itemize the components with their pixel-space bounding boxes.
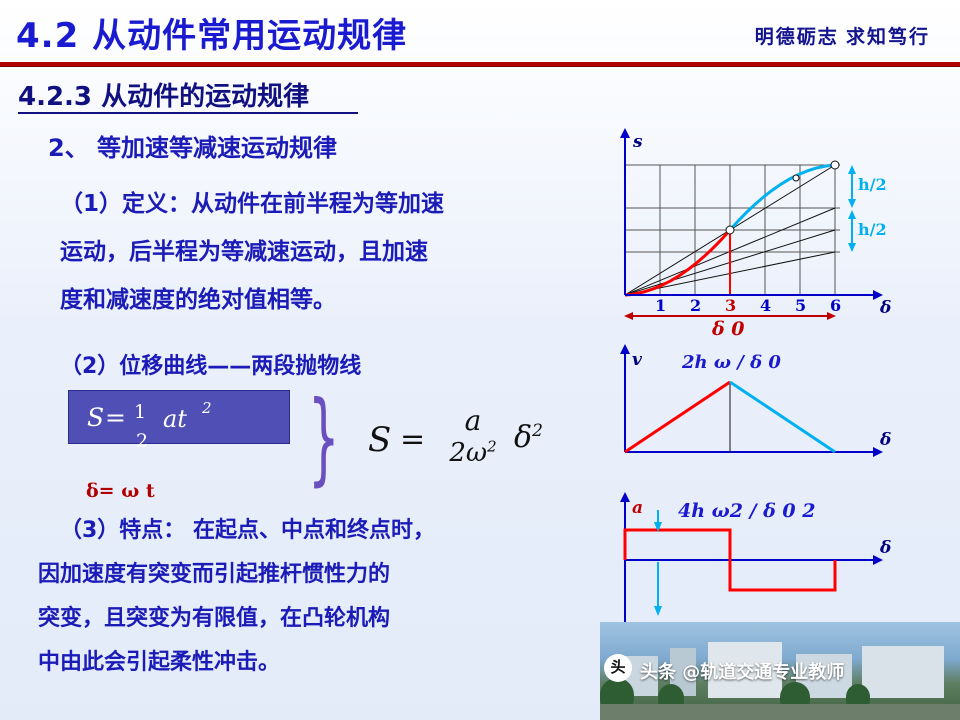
section-heading-underline	[18, 112, 358, 114]
page-title: 4.2 从动件常用运动规律	[16, 8, 407, 57]
h-half-bottom-label: h/2	[858, 220, 887, 239]
feature-line-3: 突变，且突变为有限值，在凸轮机构	[38, 600, 390, 632]
main-formula-equals: =	[400, 422, 425, 457]
watermark-text: 头条 @轨道交通专业教师	[640, 658, 844, 684]
velocity-chart: v δ 2h ω / δ 0	[600, 342, 900, 472]
slide-root: 4.2 从动件常用运动规律 明德砺志 求知笃行 4.2.3 从动件的运动规律 2…	[0, 0, 960, 720]
s-axis-label: s	[633, 132, 643, 152]
curly-brace: }	[308, 388, 340, 488]
formula-box-s: S	[87, 403, 104, 432]
delta-axis-label-1: δ	[880, 298, 891, 318]
formula-box-denominator: 2	[136, 430, 148, 452]
header-divider-thin	[0, 66, 960, 67]
feature-line-1: （3）特点： 在起点、中点和终点时，	[60, 512, 435, 544]
delta-axis-label-3: δ	[880, 538, 891, 558]
v-axis-label: v	[632, 350, 642, 370]
main-formula-numerator: a	[465, 404, 482, 437]
h-half-top-label: h/2	[858, 175, 887, 194]
watermark-badge: 头	[604, 654, 632, 682]
item-2-heading: 2、 等加速等减速运动规律	[48, 128, 337, 163]
x-tick-6: 6	[830, 296, 841, 315]
displacement-chart: s δ 1 2 3 4 5 6 h/2 h/2 δ 0	[600, 120, 900, 320]
x-tick-5: 5	[795, 296, 806, 315]
main-formula-delta: δ2	[514, 420, 543, 455]
displacement-chart-svg	[600, 120, 900, 320]
main-formula: S = a 2ω2 δ2	[368, 398, 568, 494]
x-tick-1: 1	[655, 296, 666, 315]
acceleration-chart: a δ 4h ω2 / δ 0 2	[600, 490, 900, 635]
formula-box-at: at	[163, 405, 187, 433]
feature-line-4: 中由此会引起柔性冲击。	[38, 644, 280, 676]
slide-header: 4.2 从动件常用运动规律 明德砺志 求知笃行	[0, 0, 960, 62]
a-axis-label: a	[632, 498, 643, 518]
displacement-curve-line: （2）位移曲线——两段抛物线	[60, 348, 361, 380]
formula-box: S = 1 2 at 2	[68, 390, 290, 444]
delta0-label: δ 0	[712, 318, 745, 340]
formula-box-exponent: 2	[202, 399, 212, 417]
delta-omega-note: δ= ω t	[86, 480, 155, 502]
a-peak-label: 4h ω2 / δ 0 2	[678, 500, 815, 522]
main-formula-fraction: a 2ω2	[440, 404, 506, 468]
x-tick-4: 4	[760, 296, 771, 315]
formula-box-numerator: 1	[134, 401, 146, 423]
section-heading: 4.2.3 从动件的运动规律	[18, 76, 309, 113]
definition-line-3: 度和减速度的绝对值相等。	[60, 280, 336, 314]
definition-line-2: 运动，后半程为等减速运动，且加速	[60, 232, 428, 266]
charts-panel: s δ 1 2 3 4 5 6 h/2 h/2 δ 0 v δ	[600, 120, 950, 620]
definition-line-1: （1）定义：从动件在前半程为等加速	[60, 184, 444, 218]
school-motto: 明德砺志 求知笃行	[755, 22, 930, 49]
delta-axis-label-2: δ	[880, 430, 891, 450]
formula-box-fraction: 1 2	[127, 395, 157, 453]
x-tick-3: 3	[725, 296, 736, 315]
x-tick-2: 2	[690, 296, 701, 315]
v-peak-label: 2h ω / δ 0	[682, 352, 781, 373]
main-formula-s: S	[368, 420, 391, 460]
feature-line-2: 因加速度有突变而引起推杆惯性力的	[38, 556, 390, 588]
formula-box-equals: =	[105, 403, 126, 432]
main-formula-denominator: 2ω2	[449, 438, 496, 468]
